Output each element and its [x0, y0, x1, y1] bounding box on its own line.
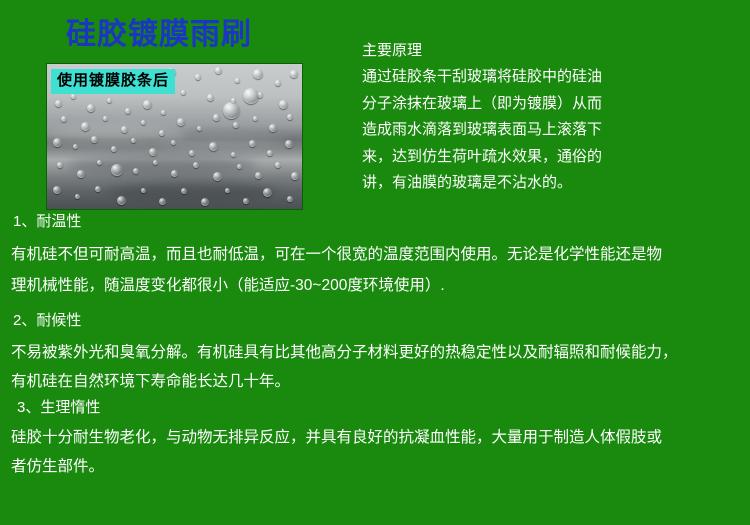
section-heading-weather-resistance: 2、耐候性: [13, 311, 81, 331]
section-body-line: 硅胶十分耐生物老化，与动物无排异反应，并具有良好的抗凝血性能，大量用于制造人体假…: [11, 428, 662, 448]
section-body-line: 不易被紫外光和臭氧分解。有机硅具有比其他高分子材料更好的热稳定性以及耐辐照和耐候…: [11, 343, 678, 363]
water-droplet: [75, 194, 80, 199]
water-droplet: [197, 126, 202, 131]
section-body-line: 理机械性能，随温度变化都很小（能适应-30~200度环境使用）.: [11, 276, 445, 296]
water-droplet: [181, 188, 187, 194]
section-heading-physiological-inertness: 3、生理惰性: [17, 398, 100, 418]
water-droplet: [213, 172, 222, 181]
water-droplet: [231, 152, 236, 157]
water-droplet: [275, 162, 281, 168]
photo-caption-badge: 使用镀膜胶条后: [51, 69, 175, 94]
water-droplet: [213, 114, 220, 121]
water-droplet: [77, 170, 85, 178]
water-droplet-large: [111, 164, 123, 176]
water-droplet: [287, 196, 293, 202]
water-droplet: [81, 122, 90, 131]
water-droplet: [103, 116, 108, 121]
section-heading-temperature-resistance: 1、耐温性: [13, 212, 81, 232]
water-droplet: [275, 80, 281, 86]
water-droplet: [269, 124, 277, 132]
principle-heading: 主要原理: [362, 38, 750, 64]
water-droplet: [117, 196, 126, 205]
water-droplet: [141, 120, 146, 125]
water-droplet: [235, 78, 240, 83]
principle-section: 主要原理 通过硅胶条干刮玻璃将硅胶中的硅油 分子涂抹在玻璃上（即为镀膜）从而 造…: [362, 38, 750, 197]
water-droplet: [141, 188, 146, 193]
water-droplet: [159, 198, 166, 205]
water-droplet: [290, 70, 298, 78]
section-body-line: 有机硅在自然环境下寿命能长达几十年。: [11, 372, 290, 392]
water-droplet-large: [243, 88, 259, 104]
water-droplet: [73, 144, 78, 149]
water-droplet: [195, 74, 201, 80]
water-droplet: [233, 122, 239, 128]
water-droplet: [53, 138, 62, 147]
water-droplet: [201, 198, 209, 206]
water-droplet: [267, 150, 273, 156]
water-droplet: [181, 90, 186, 95]
page-title: 硅胶镀膜雨刷: [66, 18, 252, 52]
water-droplet: [171, 170, 178, 177]
product-detail-page: 硅胶镀膜雨刷 使用镀膜胶条后: [0, 0, 750, 525]
principle-line: 分子涂抹在玻璃上（即为镀膜）从而: [362, 91, 750, 118]
water-droplet: [255, 172, 262, 179]
water-droplet: [279, 100, 288, 109]
water-droplet: [209, 142, 218, 151]
glass-streak: [157, 136, 287, 148]
water-droplet: [159, 130, 165, 136]
water-droplet: [95, 186, 101, 192]
water-droplet: [87, 104, 95, 112]
water-droplet: [193, 162, 199, 168]
water-droplet: [161, 110, 166, 115]
water-droplet: [225, 188, 230, 193]
section-body-line: 有机硅不但可耐高温，而且也耐低温，可在一个很宽的温度范围内使用。无论是化学性能还…: [11, 245, 662, 265]
water-droplet: [189, 150, 195, 156]
water-droplet: [57, 162, 63, 168]
water-droplet: [249, 140, 256, 147]
water-droplet-large: [223, 102, 240, 119]
water-droplet: [153, 160, 158, 165]
water-droplet: [207, 94, 214, 101]
water-droplet: [125, 108, 131, 114]
water-droplet: [91, 136, 98, 143]
water-droplet: [237, 164, 242, 169]
water-droplet: [55, 100, 62, 107]
principle-line: 通过硅胶条干刮玻璃将硅胶中的硅油: [362, 64, 750, 91]
principle-line: 来，达到仿生荷叶疏水效果，通俗的: [362, 144, 750, 171]
water-droplet: [121, 126, 128, 133]
water-droplet: [263, 188, 272, 197]
water-droplet: [291, 172, 299, 180]
water-droplet: [71, 94, 76, 99]
water-droplet: [53, 186, 61, 194]
water-droplet: [97, 160, 102, 165]
water-droplet: [253, 116, 258, 121]
water-droplet: [285, 140, 293, 148]
section-body-line: 者仿生部件。: [11, 457, 104, 477]
water-droplet: [171, 140, 176, 145]
water-droplet: [177, 118, 185, 126]
water-droplet: [143, 100, 152, 109]
water-droplet: [149, 148, 157, 156]
hero-photo: 使用镀膜胶条后: [46, 63, 303, 210]
water-droplet: [133, 168, 139, 174]
water-droplet: [131, 138, 136, 143]
water-droplet: [111, 146, 117, 152]
principle-line: 讲，有油膜的玻璃是不沾水的。: [362, 170, 750, 197]
water-droplet: [243, 198, 249, 204]
water-droplet: [287, 114, 293, 120]
water-droplet: [107, 98, 112, 103]
water-droplet: [61, 116, 67, 122]
glass-streak: [67, 156, 257, 174]
principle-line: 造成雨水滴落到玻璃表面马上滚落下: [362, 117, 750, 144]
water-droplet: [215, 67, 222, 74]
water-droplet: [253, 69, 263, 79]
glass-streak: [107, 182, 277, 202]
